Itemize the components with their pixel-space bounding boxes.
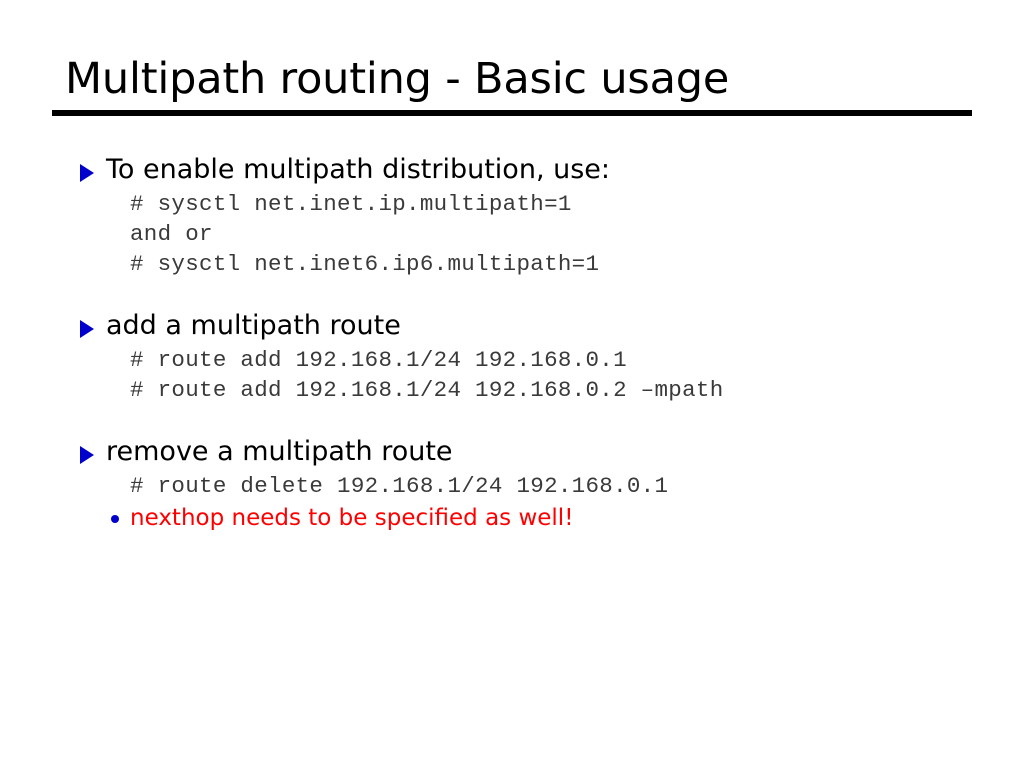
content-group: remove a multipath route # route delete … — [0, 434, 1024, 534]
slide-body: To enable multipath distribution, use: #… — [0, 152, 1024, 534]
content-group: add a multipath route # route add 192.16… — [0, 308, 1024, 405]
slide-canvas: Multipath routing - Basic usage To enabl… — [0, 0, 1024, 768]
dot-icon — [111, 515, 119, 523]
content-group: To enable multipath distribution, use: #… — [0, 152, 1024, 279]
bullet-item: remove a multipath route — [0, 434, 1024, 469]
code-line: # route add 192.168.1/24 192.168.0.1 — [0, 345, 1024, 375]
sub-bullet-label: nexthop needs to be specified as well! — [130, 505, 573, 531]
code-line: # sysctl net.inet.ip.multipath=1 — [0, 189, 1024, 219]
bullet-label: remove a multipath route — [106, 436, 453, 467]
code-line: # route add 192.168.1/24 192.168.0.2 –mp… — [0, 375, 1024, 405]
bullet-label: add a multipath route — [106, 310, 401, 341]
code-line: and or — [0, 219, 1024, 249]
code-block: # sysctl net.inet.ip.multipath=1 and or … — [0, 189, 1024, 279]
bullet-item: To enable multipath distribution, use: — [0, 152, 1024, 187]
sub-bullet-note: nexthop needs to be specified as well! — [0, 502, 1024, 534]
triangle-right-icon — [80, 446, 94, 464]
triangle-right-icon — [80, 164, 94, 182]
code-line: # sysctl net.inet6.ip6.multipath=1 — [0, 249, 1024, 279]
page-title: Multipath routing - Basic usage — [65, 52, 985, 106]
bullet-label: To enable multipath distribution, use: — [106, 154, 610, 185]
code-block: # route delete 192.168.1/24 192.168.0.1 — [0, 471, 1024, 501]
code-line: # route delete 192.168.1/24 192.168.0.1 — [0, 471, 1024, 501]
bullet-item: add a multipath route — [0, 308, 1024, 343]
code-block: # route add 192.168.1/24 192.168.0.1 # r… — [0, 345, 1024, 405]
title-underline-rule — [52, 110, 972, 116]
triangle-right-icon — [80, 320, 94, 338]
